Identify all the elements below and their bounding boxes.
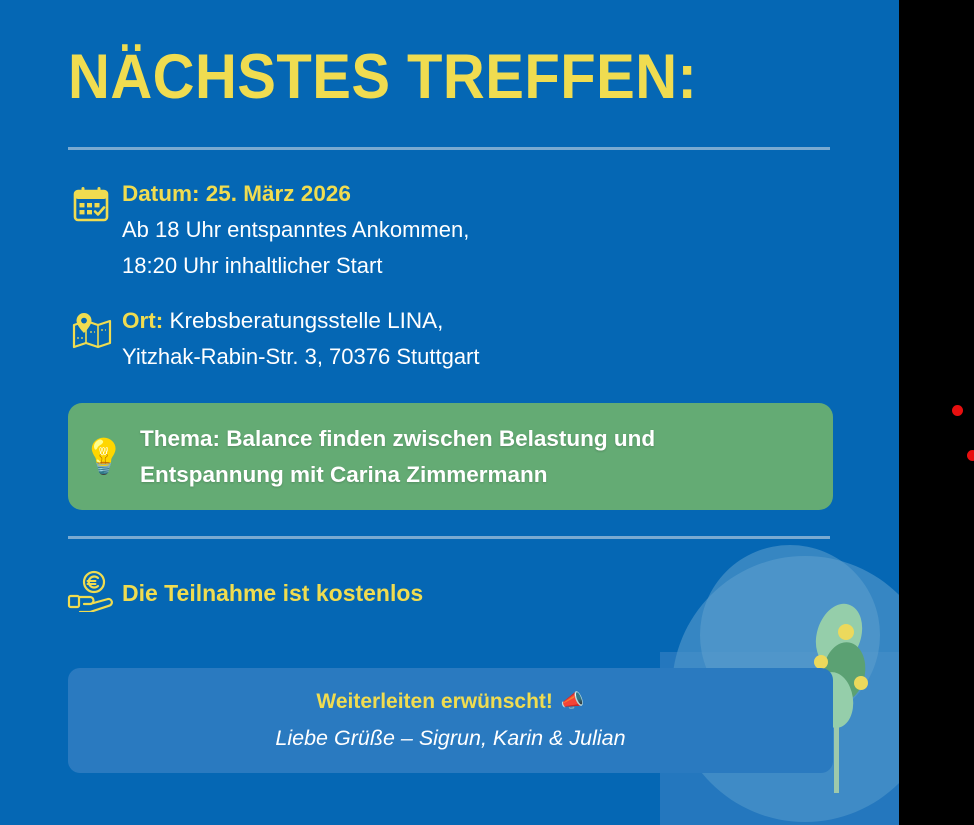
theme-line-1: Thema: Balance finden zwischen Belastung… — [140, 421, 813, 457]
megaphone-icon: 📣 — [561, 692, 585, 711]
place-row: Ort: Krebsberatungsstelle LINA, Yitzhak-… — [60, 303, 760, 375]
theme-text-block: Thema: Balance finden zwischen Belastung… — [140, 421, 833, 493]
place-value: Krebsberatungsstelle LINA, — [170, 308, 444, 333]
theme-highlight-box: 💡 Thema: Balance finden zwischen Belastu… — [68, 403, 833, 510]
date-value: 25. März 2026 — [206, 181, 351, 206]
date-line-1: Datum: 25. März 2026 — [122, 176, 760, 212]
screenshot-stage: NÄCHSTES TREFFEN: — [0, 0, 974, 825]
free-participation-row: Die Teilnahme ist kostenlos — [60, 568, 760, 612]
greeting-text: Liebe Grüße – Sigrun, Karin & Julian — [275, 721, 625, 755]
date-label: Datum: — [122, 181, 200, 206]
map-location-icon — [60, 303, 122, 351]
place-line-2: Yitzhak-Rabin-Str. 3, 70376 Stuttgart — [122, 339, 760, 375]
date-text-block: Datum: 25. März 2026 Ab 18 Uhr entspannt… — [122, 176, 760, 284]
slide-canvas: NÄCHSTES TREFFEN: — [0, 0, 899, 825]
hand-euro-icon — [60, 568, 122, 612]
place-line-1: Ort: Krebsberatungsstelle LINA, — [122, 303, 760, 339]
marker-dot-2 — [967, 450, 974, 461]
page-title: NÄCHSTES TREFFEN: — [68, 42, 776, 112]
theme-line-2: Entspannung mit Carina Zimmermann — [140, 457, 813, 493]
closing-panel: Weiterleiten erwünscht! 📣 Liebe Grüße – … — [68, 668, 833, 773]
divider-top — [68, 147, 830, 150]
forward-request-text: Weiterleiten erwünscht! — [316, 687, 553, 717]
forward-request-line: Weiterleiten erwünscht! 📣 — [316, 687, 584, 717]
place-text-block: Ort: Krebsberatungsstelle LINA, Yitzhak-… — [122, 303, 760, 375]
divider-bottom — [68, 536, 830, 539]
date-line-3: 18:20 Uhr inhaltlicher Start — [122, 248, 760, 284]
free-participation-text: Die Teilnahme ist kostenlos — [122, 568, 760, 610]
marker-dot-1 — [952, 405, 963, 416]
calendar-icon — [60, 176, 122, 224]
date-row: Datum: 25. März 2026 Ab 18 Uhr entspannt… — [60, 176, 760, 284]
date-line-2: Ab 18 Uhr entspanntes Ankommen, — [122, 212, 760, 248]
place-label: Ort: — [122, 308, 163, 333]
lightbulb-icon: 💡 — [68, 440, 140, 474]
